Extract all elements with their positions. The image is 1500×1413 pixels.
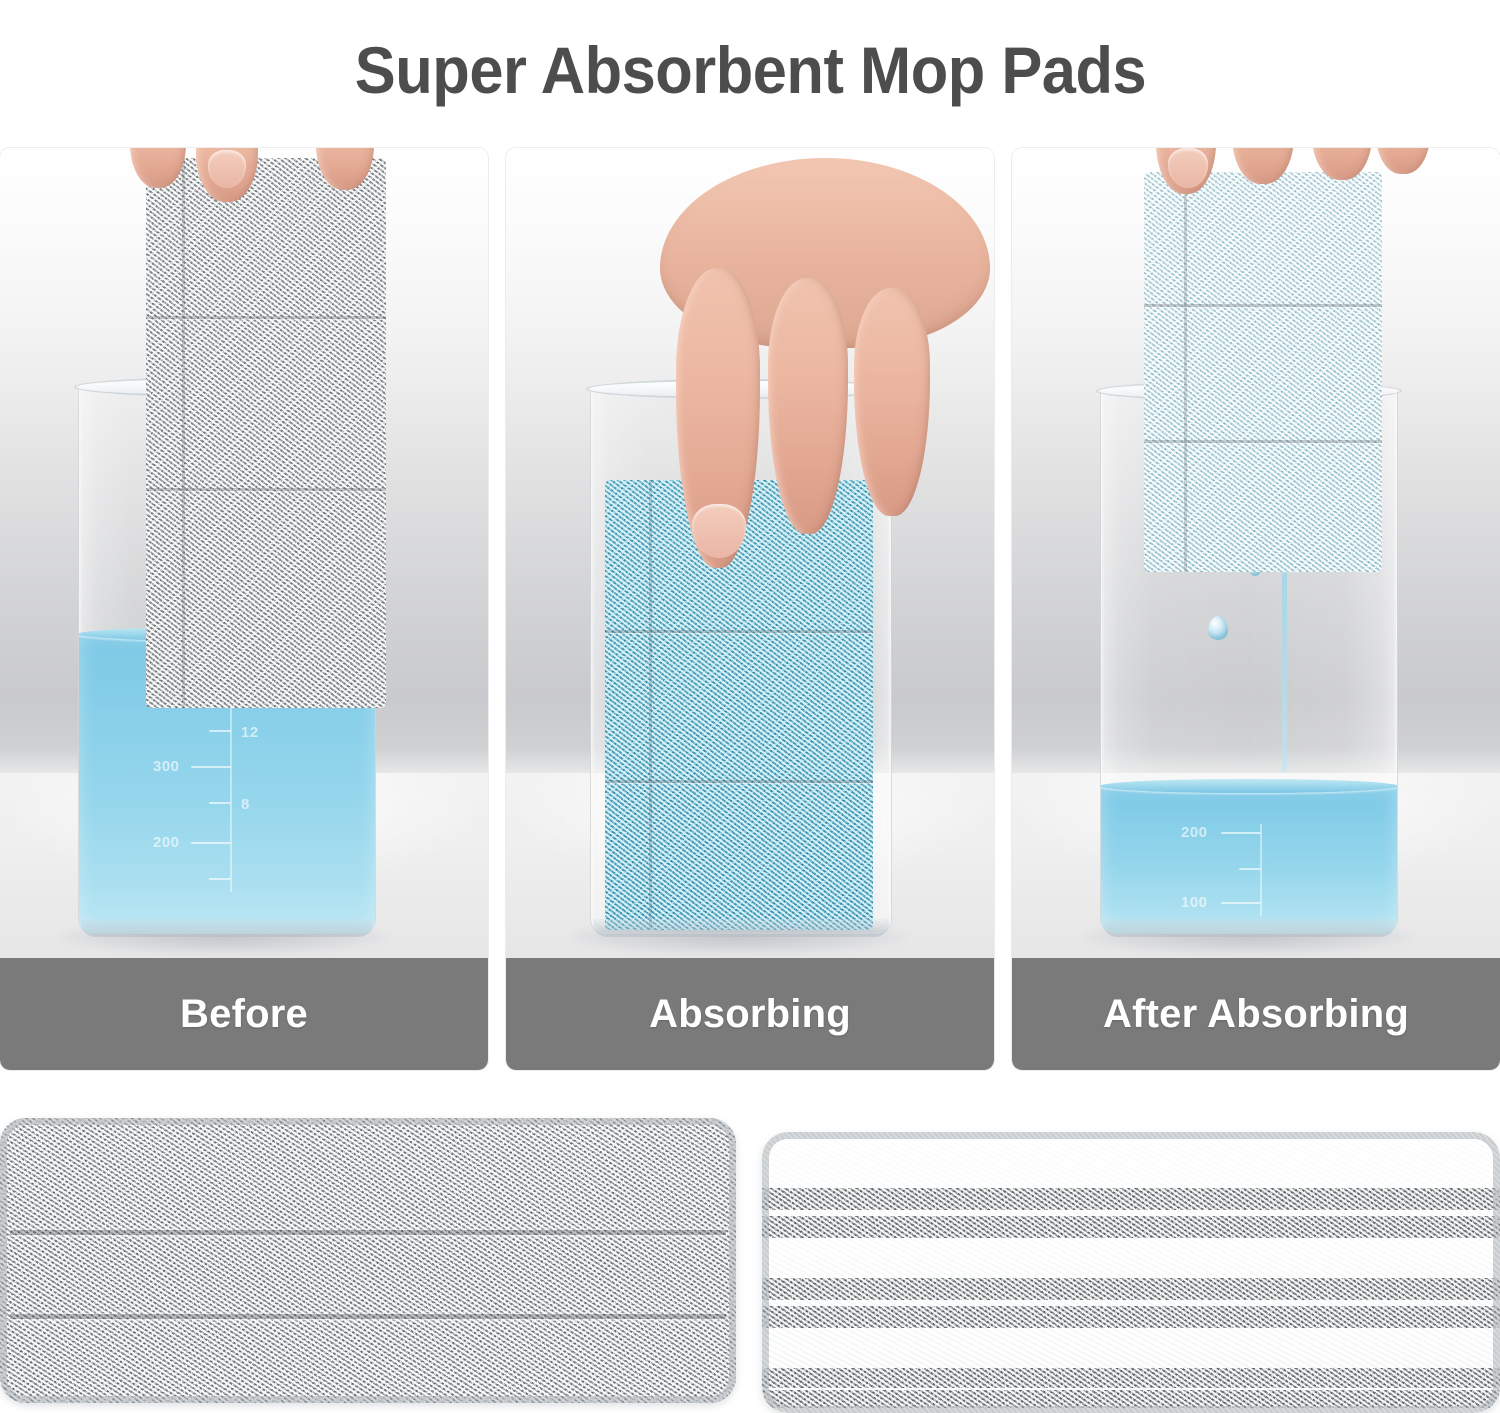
tick-minor-1: [209, 730, 231, 732]
pad-seam-2: [605, 780, 873, 783]
tick-label-8oz: 8: [241, 796, 250, 813]
stripe-6: [762, 1390, 1500, 1408]
photo-before: 400 300 200 12 8: [0, 148, 488, 958]
photo-after-absorbing: 200 100: [1012, 148, 1500, 958]
cup-base: [1103, 919, 1395, 937]
finger-2: [1232, 148, 1294, 184]
panel-absorbing: Absorbing: [506, 148, 994, 1070]
drip-stream: [1282, 572, 1287, 772]
water-drop: [1208, 616, 1228, 640]
tick-label-12oz: 12: [241, 724, 259, 741]
tick-100: [1221, 902, 1261, 904]
gray-pad-seam-1: [10, 1230, 726, 1235]
stripe-2: [762, 1216, 1500, 1238]
tick-spine: [230, 692, 232, 892]
cup-base: [593, 919, 889, 937]
cup-measurement-scale: 400 300 200 12 8: [175, 684, 267, 904]
mop-pad-dry: [146, 158, 386, 708]
pad-seam-1: [1144, 304, 1382, 307]
stripe-4: [762, 1306, 1500, 1328]
finger-2: [196, 148, 258, 202]
pad-seam-2: [146, 488, 386, 491]
finger-3: [316, 148, 374, 190]
finger-1: [1156, 148, 1216, 194]
finger-4: [1376, 148, 1430, 174]
gray-pad-seam-2: [10, 1314, 726, 1319]
pad-seam-vertical: [182, 158, 185, 708]
gray-pad-surface: [0, 1118, 736, 1403]
pad-seam-1: [605, 630, 873, 633]
caption-bar-after-absorbing: After Absorbing: [1012, 958, 1500, 1070]
finger-3: [1312, 148, 1372, 180]
hand-holding-pad: [120, 148, 420, 238]
panel-after-absorbing: 200 100: [1012, 148, 1500, 1070]
comparison-panels: 400 300 200 12 8: [0, 148, 1500, 1070]
stripe-5: [762, 1368, 1500, 1388]
fingernail: [692, 504, 746, 558]
hand-lifting-pad: [1140, 148, 1440, 258]
header: Super Absorbent Mop Pads: [0, 0, 1500, 140]
page-title: Super Absorbent Mop Pads: [354, 32, 1145, 108]
tick-300: [191, 766, 231, 768]
tick-200: [1221, 832, 1261, 834]
caption-label-after-absorbing: After Absorbing: [1103, 992, 1409, 1037]
tick-label-100: 100: [1181, 894, 1208, 911]
tick-minor-2: [209, 802, 231, 804]
caption-label-absorbing: Absorbing: [649, 992, 851, 1037]
photo-absorbing: [506, 148, 994, 958]
caption-label-before: Before: [180, 992, 308, 1037]
panel-before: 400 300 200 12 8: [0, 148, 488, 1070]
cup-base: [81, 919, 373, 937]
index-finger: [676, 268, 760, 568]
caption-bar-before: Before: [0, 958, 488, 1070]
tick-minor-3: [209, 878, 231, 880]
pad-seam-1: [146, 316, 386, 319]
fingernail: [1168, 148, 1208, 188]
product-pad-striped: [762, 1132, 1500, 1413]
ring-finger: [854, 288, 930, 516]
finger-1: [130, 148, 186, 188]
cup-measurement-scale: 200 100: [1205, 818, 1297, 928]
tick-minor-1: [1239, 868, 1261, 870]
liquid-surface: [1100, 779, 1398, 793]
product-pads-row: [0, 1118, 1500, 1413]
product-pad-gray: [0, 1118, 736, 1403]
middle-finger: [768, 278, 848, 534]
stripe-3: [762, 1278, 1500, 1300]
stripe-1: [762, 1188, 1500, 1210]
tick-label-300: 300: [153, 758, 180, 775]
hand-pressing-pad: [612, 148, 992, 568]
tick-label-200: 200: [153, 834, 180, 851]
caption-bar-absorbing: Absorbing: [506, 958, 994, 1070]
tick-label-200: 200: [1181, 824, 1208, 841]
tick-200: [191, 842, 231, 844]
fingernail: [208, 150, 246, 188]
pad-seam-2: [1144, 440, 1382, 443]
